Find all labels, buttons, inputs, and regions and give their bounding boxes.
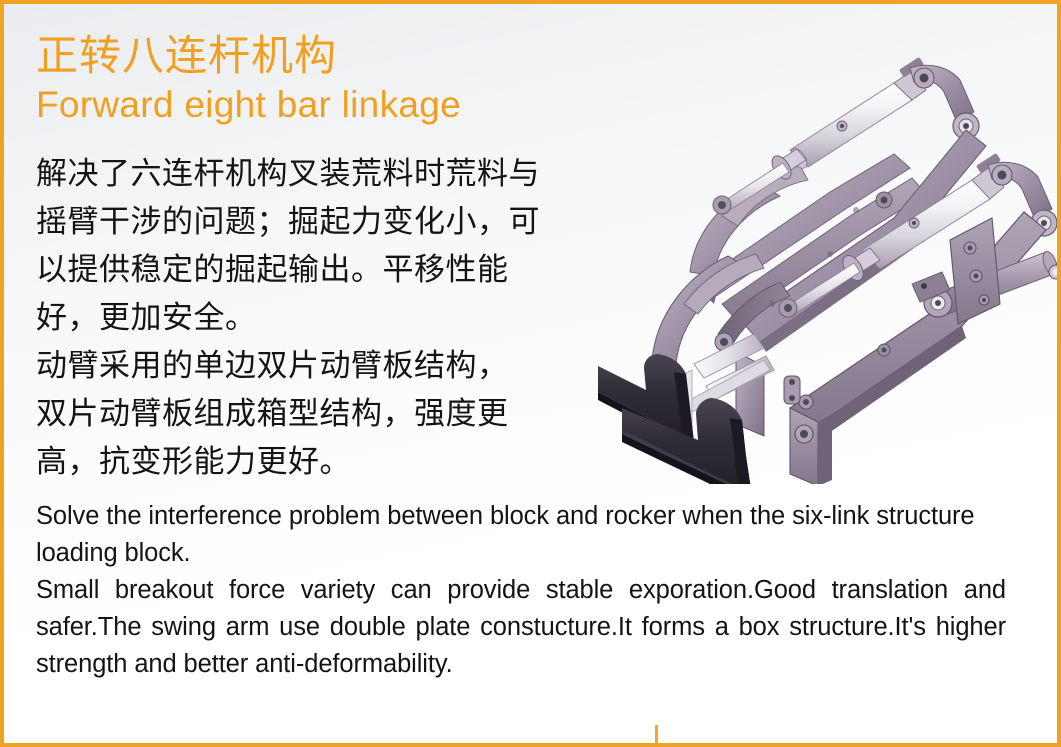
body-chinese: 解决了六连杆机构叉装荒料时荒料与 摇臂干涉的问题；掘起力变化小，可 以提供稳定的… — [36, 150, 611, 486]
english-paragraph: Solve the interference problem between b… — [36, 498, 1006, 572]
english-paragraph: Small breakout force variety can provide… — [36, 572, 1006, 683]
page-title-english: Forward eight bar linkage — [36, 82, 1036, 128]
chinese-line: 以提供稳定的掘起输出。平移性能 — [36, 246, 611, 294]
chinese-line: 解决了六连杆机构叉装荒料时荒料与 — [36, 150, 611, 198]
text-column: 正转八连杆机构 Forward eight bar linkage 解决了六连杆… — [36, 32, 1036, 683]
chinese-line: 双片动臂板组成箱型结构，强度更 — [36, 390, 611, 438]
chinese-line: 好，更加安全。 — [36, 294, 611, 342]
body-english: Solve the interference problem between b… — [36, 498, 1006, 683]
page-title-chinese: 正转八连杆机构 — [36, 32, 1036, 80]
slide-root: 正转八连杆机构 Forward eight bar linkage 解决了六连杆… — [0, 0, 1061, 747]
chinese-line: 高，抗变形能力更好。 — [36, 438, 611, 486]
chinese-line: 动臂采用的单边双片动臂板结构， — [36, 342, 611, 390]
frame-bottom-tick — [655, 725, 658, 747]
chinese-line: 摇臂干涉的问题；掘起力变化小，可 — [36, 198, 611, 246]
